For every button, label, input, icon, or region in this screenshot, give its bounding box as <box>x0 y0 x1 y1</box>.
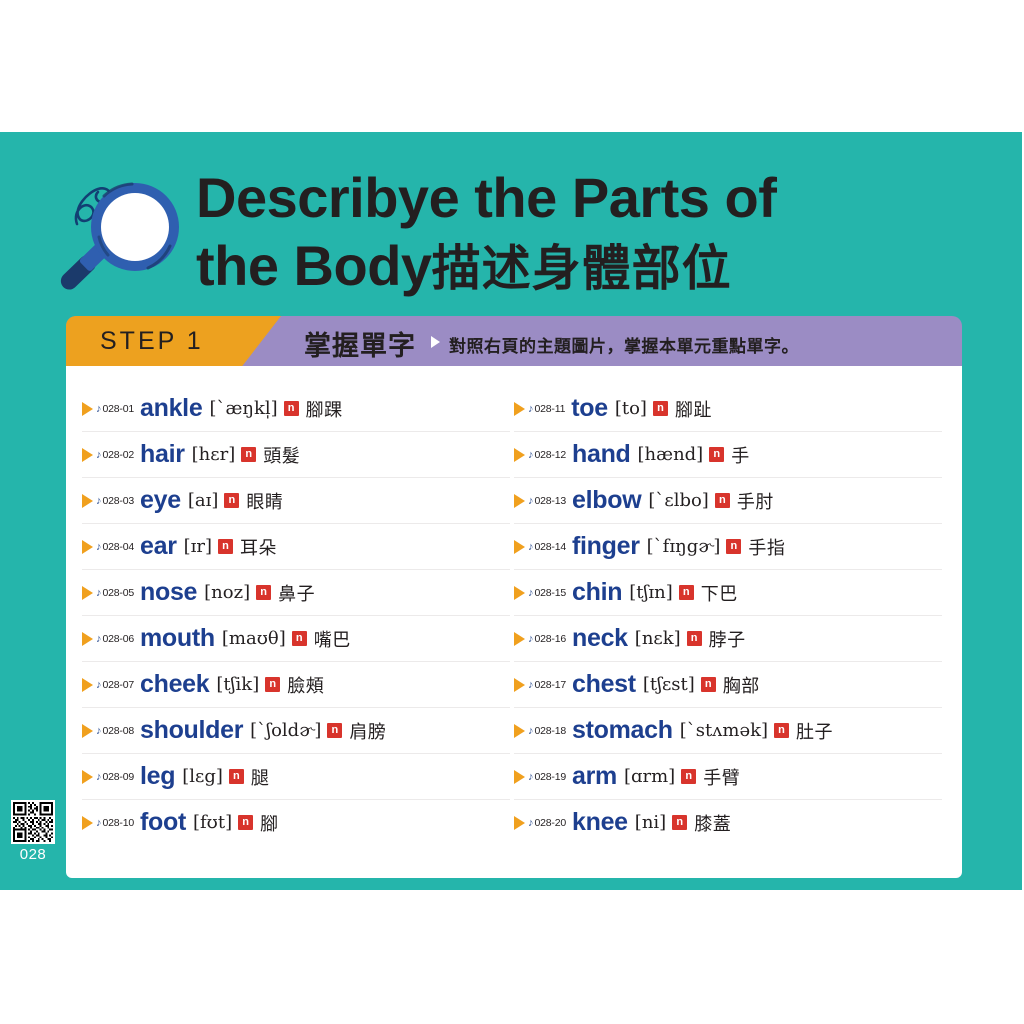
vocabulary-word: chest <box>572 670 636 699</box>
chinese-meaning: 脖子 <box>709 626 746 652</box>
part-of-speech-badge: n <box>726 539 741 554</box>
play-audio-icon[interactable] <box>514 402 525 416</box>
track-number: 028-12 <box>535 449 567 461</box>
track-number: 028-19 <box>535 771 567 783</box>
track-number: 028-13 <box>535 495 567 507</box>
part-of-speech-badge: n <box>224 493 239 508</box>
phonetic-transcription: [fʊt] <box>193 812 232 833</box>
page-canvas: Unit 3 Describye the Parts of the Body描述… <box>0 0 1024 1024</box>
word-row[interactable]: ♪028-15chin[tʃɪn]n下巴 <box>514 570 942 616</box>
play-audio-icon[interactable] <box>514 540 525 554</box>
part-of-speech-badge: n <box>327 723 342 738</box>
music-note-icon: ♪ <box>96 541 102 553</box>
part-of-speech-badge: n <box>679 585 694 600</box>
chinese-meaning: 膝蓋 <box>694 810 731 836</box>
track-number: 028-01 <box>103 403 135 415</box>
phonetic-transcription: [ˋstʌmək] <box>680 720 768 741</box>
step-description: 對照右頁的主題圖片，掌握本單元重點單字。 <box>449 332 799 357</box>
track-number: 028-20 <box>535 817 567 829</box>
vocabulary-word: neck <box>572 624 628 653</box>
play-audio-icon[interactable] <box>82 724 93 738</box>
music-note-icon: ♪ <box>96 403 102 415</box>
track-number: 028-16 <box>535 633 567 645</box>
word-row[interactable]: ♪028-13elbow[ˋɛlbo]n手肘 <box>514 478 942 524</box>
part-of-speech-badge: n <box>774 723 789 738</box>
word-row[interactable]: ♪028-01ankle[ˋæŋkl̩]n腳踝 <box>82 386 510 432</box>
play-audio-icon[interactable] <box>514 724 525 738</box>
vocabulary-word: knee <box>572 808 628 837</box>
chinese-meaning: 腳 <box>260 810 279 836</box>
phonetic-transcription: [hænd] <box>638 444 704 465</box>
phonetic-transcription: [tʃɛst] <box>643 674 695 695</box>
chinese-meaning: 肚子 <box>796 718 833 744</box>
part-of-speech-badge: n <box>681 769 696 784</box>
part-of-speech-badge: n <box>687 631 702 646</box>
track-number: 028-08 <box>103 725 135 737</box>
chinese-meaning: 肩膀 <box>349 718 386 744</box>
music-note-icon: ♪ <box>96 449 102 461</box>
music-note-icon: ♪ <box>96 633 102 645</box>
play-audio-icon[interactable] <box>514 632 525 646</box>
vocabulary-word: elbow <box>572 486 641 515</box>
phonetic-transcription: [ˋæŋkl̩] <box>209 398 277 419</box>
part-of-speech-badge: n <box>701 677 716 692</box>
word-row[interactable]: ♪028-09leg[lɛg]n腿 <box>82 754 510 800</box>
play-audio-icon[interactable] <box>82 632 93 646</box>
play-audio-icon[interactable] <box>514 678 525 692</box>
chinese-meaning: 手肘 <box>737 488 774 514</box>
track-number: 028-18 <box>535 725 567 737</box>
track-number: 028-15 <box>535 587 567 599</box>
phonetic-transcription: [ɑrm] <box>624 766 675 787</box>
chinese-meaning: 頭髮 <box>263 442 300 468</box>
word-row[interactable]: ♪028-17chest[tʃɛst]n胸部 <box>514 662 942 708</box>
play-audio-icon[interactable] <box>82 494 93 508</box>
phonetic-transcription: [tʃɪn] <box>629 582 673 603</box>
step-tab-label: STEP 1 <box>100 327 204 356</box>
chinese-meaning: 下巴 <box>701 580 738 606</box>
word-row[interactable]: ♪028-07cheek[tʃik]n臉頰 <box>82 662 510 708</box>
music-note-icon: ♪ <box>528 495 534 507</box>
music-note-icon: ♪ <box>96 679 102 691</box>
play-audio-icon[interactable] <box>514 494 525 508</box>
music-note-icon: ♪ <box>528 633 534 645</box>
play-audio-icon[interactable] <box>82 448 93 462</box>
vocabulary-word: chin <box>572 578 622 607</box>
step-heading: 掌握單字 <box>304 324 416 363</box>
music-note-icon: ♪ <box>528 725 534 737</box>
word-row[interactable]: ♪028-11toe[to]n腳趾 <box>514 386 942 432</box>
vocabulary-card: ♪028-01ankle[ˋæŋkl̩]n腳踝♪028-02hair[hɛr]n… <box>66 366 962 878</box>
word-row[interactable]: ♪028-10foot[fʊt]n腳 <box>82 800 510 845</box>
vocabulary-word: hair <box>140 440 185 469</box>
title-line-1: Describye the Parts of <box>196 164 916 232</box>
play-audio-icon[interactable] <box>82 402 93 416</box>
phonetic-transcription: [aɪ] <box>188 490 219 511</box>
music-note-icon: ♪ <box>528 403 534 415</box>
part-of-speech-badge: n <box>238 815 253 830</box>
chinese-meaning: 耳朵 <box>240 534 277 560</box>
part-of-speech-badge: n <box>715 493 730 508</box>
title-line-2-chinese: 描述身體部位 <box>432 242 732 296</box>
vocabulary-word: ankle <box>140 394 202 423</box>
music-note-icon: ♪ <box>528 817 534 829</box>
track-number: 028-11 <box>535 403 566 415</box>
part-of-speech-badge: n <box>292 631 307 646</box>
phonetic-transcription: [ˋɛlbo] <box>648 490 709 511</box>
word-row[interactable]: ♪028-04ear[ɪr]n耳朵 <box>82 524 510 570</box>
title-line-2: the Body描述身體部位 <box>196 232 916 300</box>
vocabulary-word: ear <box>140 532 177 561</box>
part-of-speech-badge: n <box>653 401 668 416</box>
track-number: 028-05 <box>103 587 135 599</box>
music-note-icon: ♪ <box>528 541 534 553</box>
part-of-speech-badge: n <box>218 539 233 554</box>
play-audio-icon[interactable] <box>514 586 525 600</box>
vocabulary-word: eye <box>140 486 181 515</box>
chinese-meaning: 鼻子 <box>278 580 315 606</box>
phonetic-transcription: [hɛr] <box>192 444 236 465</box>
word-row[interactable]: ♪028-20knee[ni]n膝蓋 <box>514 800 942 845</box>
track-number: 028-06 <box>103 633 135 645</box>
chinese-meaning: 眼睛 <box>246 488 283 514</box>
play-audio-icon[interactable] <box>82 540 93 554</box>
chinese-meaning: 手指 <box>748 534 785 560</box>
word-row[interactable]: ♪028-05nose[noz]n鼻子 <box>82 570 510 616</box>
part-of-speech-badge: n <box>284 401 299 416</box>
track-number: 028-03 <box>103 495 135 507</box>
track-number: 028-10 <box>103 817 135 829</box>
play-audio-icon[interactable] <box>514 816 525 830</box>
word-row[interactable]: ♪028-16neck[nɛk]n脖子 <box>514 616 942 662</box>
track-number: 028-14 <box>535 541 567 553</box>
chinese-meaning: 嘴巴 <box>314 626 351 652</box>
phonetic-transcription: [ɪr] <box>184 536 212 557</box>
track-number: 028-09 <box>103 771 135 783</box>
chinese-meaning: 手臂 <box>703 764 740 790</box>
chinese-meaning: 腳趾 <box>675 396 712 422</box>
play-audio-icon[interactable] <box>82 770 93 784</box>
word-column-left: ♪028-01ankle[ˋæŋkl̩]n腳踝♪028-02hair[hɛr]n… <box>82 386 510 845</box>
vocabulary-word: shoulder <box>140 716 243 745</box>
qr-code[interactable] <box>11 800 55 844</box>
play-arrow-icon <box>431 336 440 348</box>
word-row[interactable]: ♪028-03eye[aɪ]n眼睛 <box>82 478 510 524</box>
play-audio-icon[interactable] <box>82 586 93 600</box>
vocabulary-word: arm <box>572 762 617 791</box>
vocabulary-word: mouth <box>140 624 215 653</box>
qr-code-icon <box>13 802 53 842</box>
page-number: 028 <box>11 846 55 863</box>
vocabulary-word: foot <box>140 808 186 837</box>
title-line-2-english: the Body <box>196 234 432 297</box>
part-of-speech-badge: n <box>265 677 280 692</box>
word-row[interactable]: ♪028-08shoulder[ˋʃoldɚ]n肩膀 <box>82 708 510 754</box>
vocabulary-word: toe <box>571 394 608 423</box>
phonetic-transcription: [nɛk] <box>635 628 681 649</box>
music-note-icon: ♪ <box>528 449 534 461</box>
word-row[interactable]: ♪028-12hand[hænd]n手 <box>514 432 942 478</box>
play-audio-icon[interactable] <box>82 678 93 692</box>
chinese-meaning: 腿 <box>251 764 270 790</box>
part-of-speech-badge: n <box>229 769 244 784</box>
vocabulary-word: leg <box>140 762 175 791</box>
word-row[interactable]: ♪028-06mouth[maʊθ]n嘴巴 <box>82 616 510 662</box>
part-of-speech-badge: n <box>256 585 271 600</box>
phonetic-transcription: [tʃik] <box>216 674 259 695</box>
track-number: 028-17 <box>535 679 567 691</box>
music-note-icon: ♪ <box>96 771 102 783</box>
music-note-icon: ♪ <box>96 817 102 829</box>
phonetic-transcription: [noz] <box>204 582 250 603</box>
music-note-icon: ♪ <box>528 771 534 783</box>
page-title: Describye the Parts of the Body描述身體部位 <box>196 164 916 301</box>
chinese-meaning: 臉頰 <box>287 672 324 698</box>
track-number: 028-02 <box>103 449 135 461</box>
vocabulary-word: stomach <box>572 716 673 745</box>
music-note-icon: ♪ <box>528 587 534 599</box>
music-note-icon: ♪ <box>96 495 102 507</box>
word-row[interactable]: ♪028-18stomach[ˋstʌmək]n肚子 <box>514 708 942 754</box>
vocabulary-word: hand <box>572 440 631 469</box>
part-of-speech-badge: n <box>672 815 687 830</box>
chinese-meaning: 腳踝 <box>306 396 343 422</box>
play-audio-icon[interactable] <box>82 816 93 830</box>
music-note-icon: ♪ <box>96 587 102 599</box>
chinese-meaning: 手 <box>731 442 750 468</box>
phonetic-transcription: [maʊθ] <box>222 628 286 649</box>
phonetic-transcription: [ˋʃoldɚ] <box>250 720 321 741</box>
step-header-bar: STEP 1 掌握單字 對照右頁的主題圖片，掌握本單元重點單字。 <box>66 316 962 366</box>
vocabulary-word: finger <box>572 532 640 561</box>
word-row[interactable]: ♪028-14finger[ˋfɪŋgɚ]n手指 <box>514 524 942 570</box>
track-number: 028-07 <box>103 679 135 691</box>
music-note-icon: ♪ <box>96 725 102 737</box>
phonetic-transcription: [to] <box>615 398 647 419</box>
music-note-icon: ♪ <box>528 679 534 691</box>
phonetic-transcription: [ˋfɪŋgɚ] <box>647 536 721 557</box>
vocabulary-word: cheek <box>140 670 209 699</box>
play-audio-icon[interactable] <box>514 770 525 784</box>
play-audio-icon[interactable] <box>514 448 525 462</box>
part-of-speech-badge: n <box>241 447 256 462</box>
vocabulary-word: nose <box>140 578 197 607</box>
word-column-right: ♪028-11toe[to]n腳趾♪028-12hand[hænd]n手♪028… <box>514 386 942 845</box>
word-row[interactable]: ♪028-19arm[ɑrm]n手臂 <box>514 754 942 800</box>
phonetic-transcription: [lɛg] <box>182 766 223 787</box>
part-of-speech-badge: n <box>709 447 724 462</box>
word-row[interactable]: ♪028-02hair[hɛr]n頭髮 <box>82 432 510 478</box>
phonetic-transcription: [ni] <box>635 812 666 833</box>
track-number: 028-04 <box>103 541 135 553</box>
chinese-meaning: 胸部 <box>723 672 760 698</box>
